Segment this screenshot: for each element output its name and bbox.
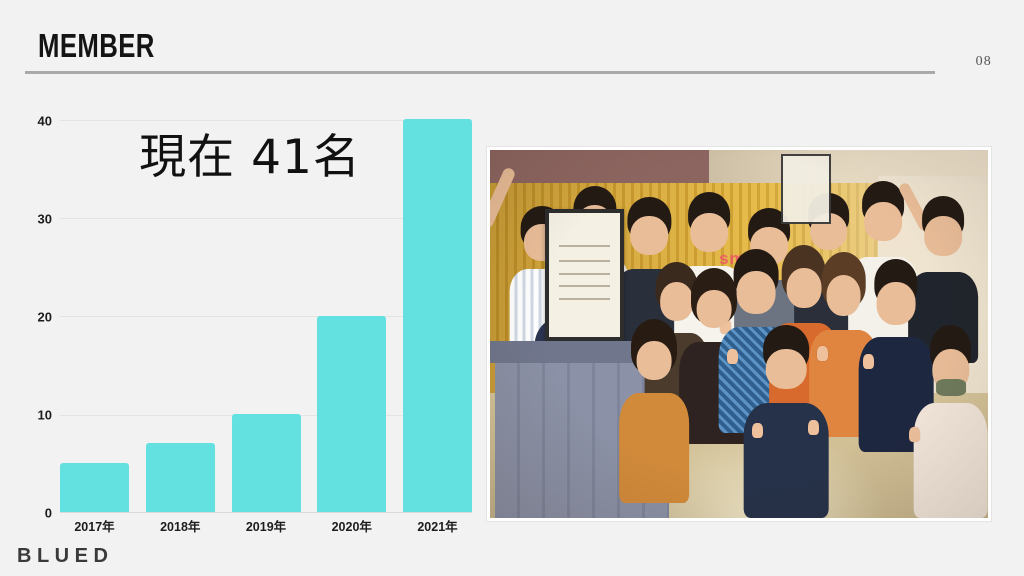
x-axis-tick: 2018年 [146,516,215,535]
axis-baseline [60,512,472,513]
team-group-photo: smile [490,150,988,518]
bar-2020 [317,316,386,512]
photo-award-certificate [545,209,625,341]
chart-plot-area [60,120,472,513]
x-axis-tick: 2020年 [317,516,386,535]
x-axis-tick: 2019年 [232,516,301,535]
chart-x-axis: 2017年 2018年 2019年 2020年 2021年 [60,516,472,535]
photo-person-masked [913,349,988,518]
chart-y-axis: 0 10 20 30 40 [20,100,52,513]
bar-2021 [403,119,472,512]
title-divider [25,71,935,74]
page-number: 08 [976,54,992,70]
page-title: MEMBER [38,27,155,65]
bar-2017 [60,463,129,512]
photo-person [619,341,689,503]
bar-series [60,119,472,512]
brand-logo: BLUED [17,545,113,568]
y-axis-tick: 10 [38,408,52,423]
photo-ceiling-left [490,150,709,187]
y-axis-tick: 40 [38,114,52,129]
member-growth-bar-chart: 0 10 20 30 40 2017年 2018年 2019年 2020年 20… [20,100,472,540]
bar-2018 [146,443,215,512]
x-axis-tick: 2021年 [403,516,472,535]
photo-person-front-center [744,349,829,518]
y-axis-tick: 20 [38,310,52,325]
x-axis-tick: 2017年 [60,516,129,535]
team-photo-frame: smile [487,147,991,521]
bar-2019 [232,414,301,512]
y-axis-tick: 30 [38,212,52,227]
y-axis-tick: 0 [45,506,52,521]
photo-award-certificate-second [781,154,831,224]
